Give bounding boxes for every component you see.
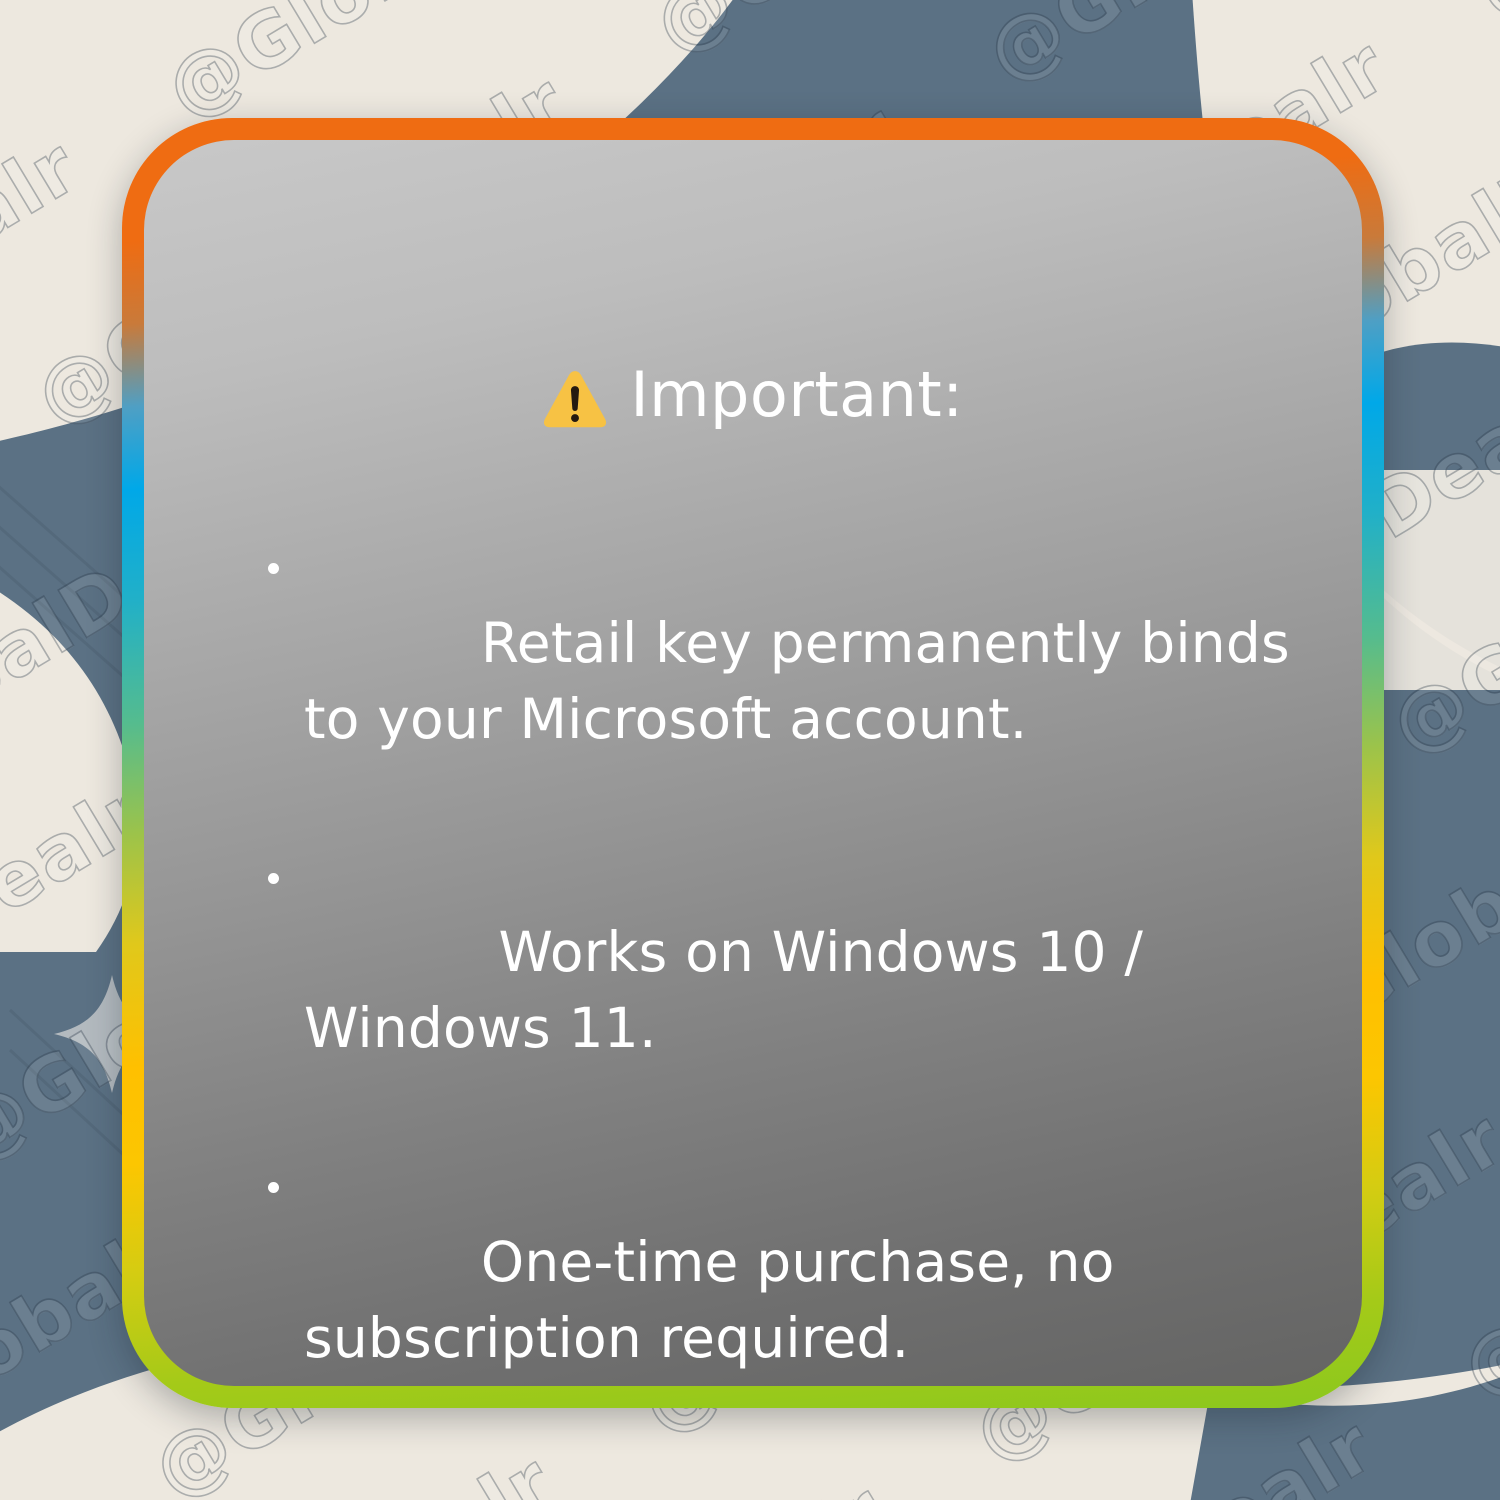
gradient-border-frame: Important: Retail key permanently binds … (122, 118, 1384, 1408)
list-item-text: Works on Windows 10 / Windows 11. (304, 920, 1161, 1060)
list-item-text: Retail key permanently binds to your Mic… (304, 611, 1308, 751)
poster-canvas: @GlobalDealr@GlobalDealr@GlobalDealr@Glo… (0, 0, 1500, 1500)
list-item: Retail key permanently binds to your Mic… (254, 530, 1300, 834)
warning-triangle-icon (542, 366, 608, 432)
list-item-text: One-time purchase, no subscription requi… (304, 1230, 1132, 1370)
card-title-row: Important: (190, 352, 1316, 438)
card-title-text: Important: (630, 364, 963, 426)
list-item: Works on Windows 10 / Windows 11. (254, 840, 1300, 1144)
info-card: Important: Retail key permanently binds … (144, 140, 1362, 1386)
important-notes-list: Retail key permanently binds to your Mic… (190, 530, 1316, 1386)
cream-wave-mid-right (1382, 470, 1500, 690)
list-item: One-time purchase, no subscription requi… (254, 1149, 1300, 1386)
